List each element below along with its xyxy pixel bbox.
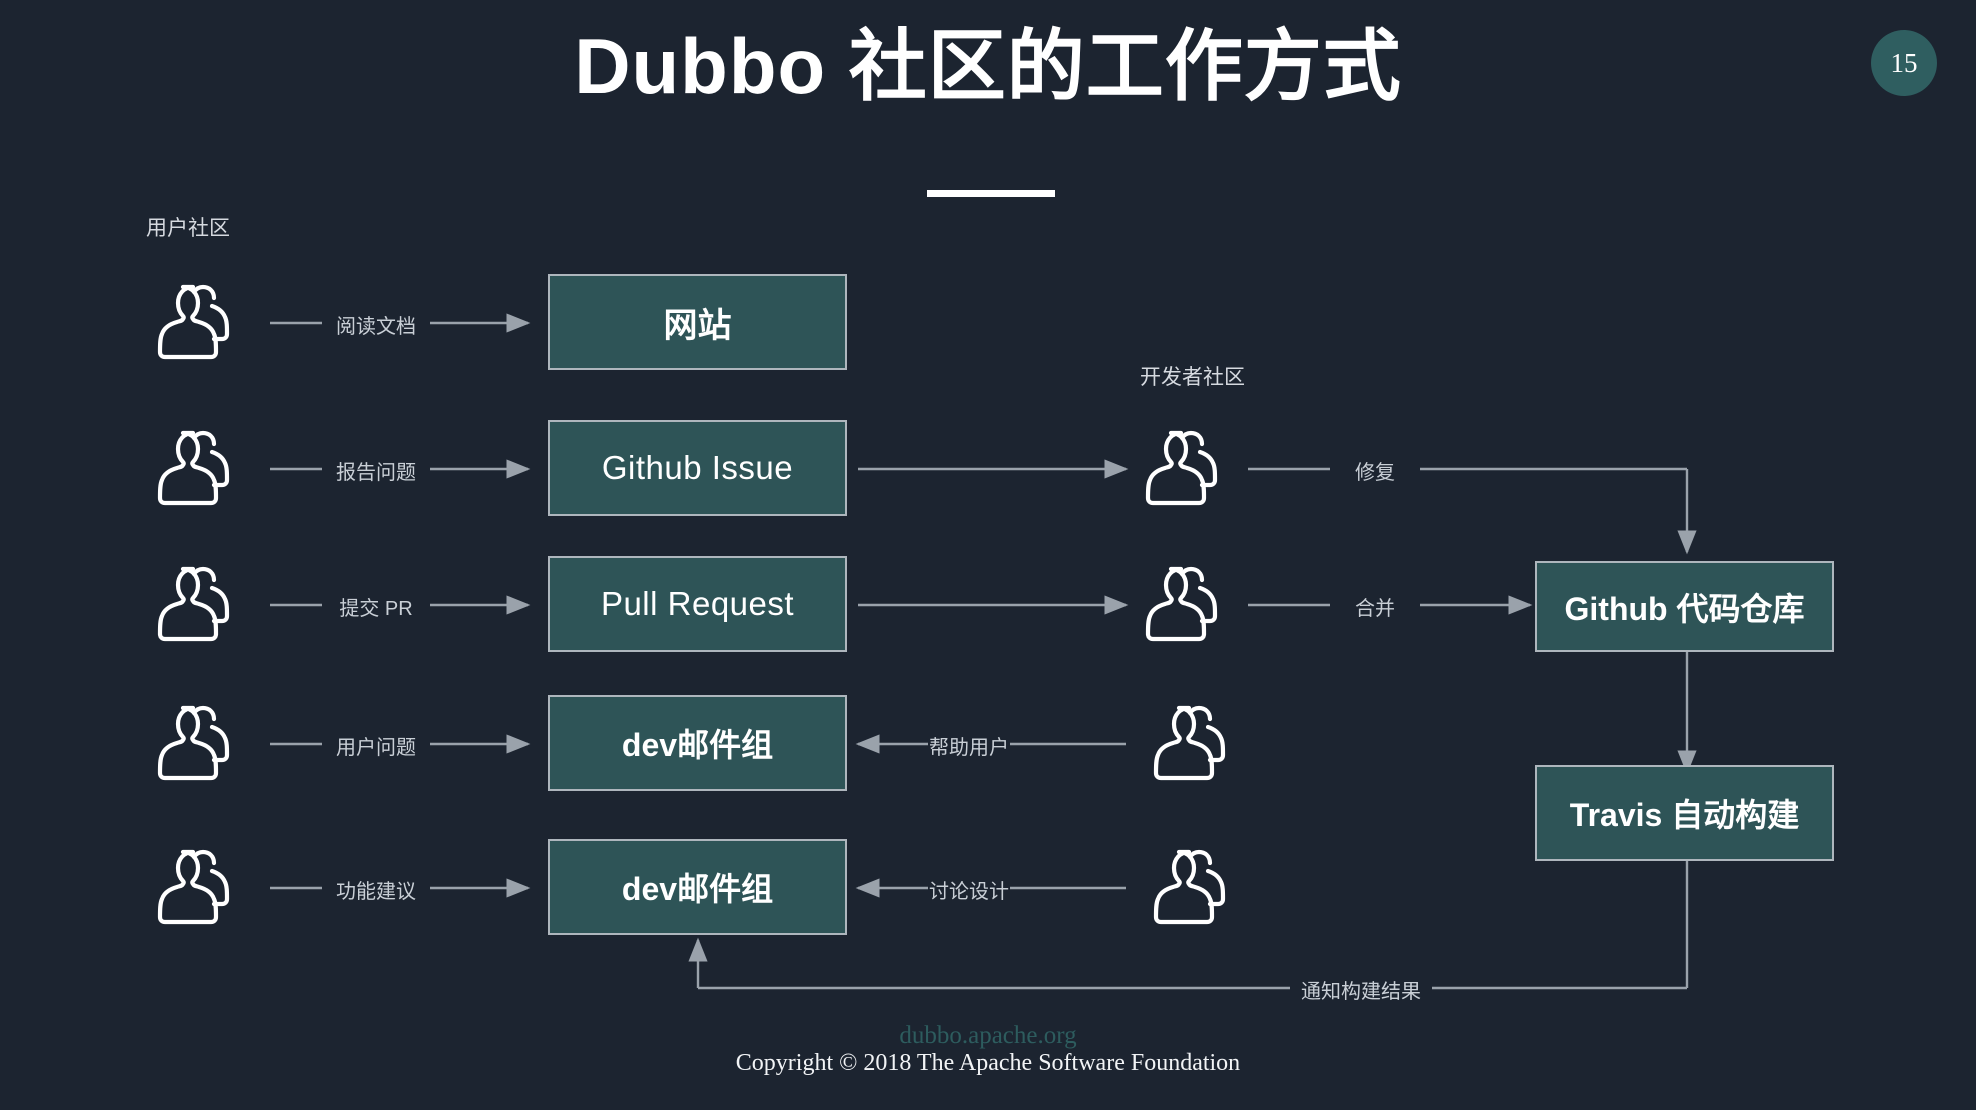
box-pull-request[interactable]: Pull Request: [548, 556, 847, 652]
users-icon: [152, 282, 244, 362]
box-dev-mailing-list-2[interactable]: dev邮件组: [548, 839, 847, 935]
footer-site-url: dubbo.apache.org: [0, 1022, 1976, 1050]
users-icon: [1140, 564, 1232, 644]
box-github-repository[interactable]: Github 代码仓库: [1535, 561, 1834, 652]
box-website[interactable]: 网站: [548, 274, 847, 370]
flow-label-submit-pr: 提交 PR: [322, 592, 430, 621]
title-underline: [927, 190, 1055, 197]
box-github-issue[interactable]: Github Issue: [548, 420, 847, 516]
flow-label-report-issue: 报告问题: [322, 456, 430, 485]
box-travis-ci[interactable]: Travis 自动构建: [1535, 765, 1834, 861]
page-title: Dubbo 社区的工作方式: [0, 22, 1976, 112]
users-icon: [1140, 428, 1232, 508]
caption-user-community: 用户社区: [146, 212, 230, 242]
flow-label-user-question: 用户问题: [322, 731, 430, 760]
flow-label-help-user: 帮助用户: [928, 731, 1010, 760]
users-icon: [152, 564, 244, 644]
users-icon: [152, 703, 244, 783]
users-icon: [1148, 703, 1240, 783]
flow-label-merge: 合并: [1330, 592, 1420, 621]
users-icon: [152, 428, 244, 508]
slide-canvas: Dubbo 社区的工作方式 15 用户社区 开发者社区: [0, 0, 1976, 1110]
flow-label-discuss-design: 讨论设计: [928, 875, 1010, 904]
page-number-badge: 15: [1871, 30, 1937, 96]
users-icon: [1148, 847, 1240, 927]
flow-label-feature-request: 功能建议: [322, 875, 430, 904]
box-dev-mailing-list-1[interactable]: dev邮件组: [548, 695, 847, 791]
flow-label-fix: 修复: [1330, 456, 1420, 485]
flow-label-notify-build-result: 通知构建结果: [1290, 975, 1432, 1004]
caption-developer-community: 开发者社区: [1140, 361, 1245, 391]
footer-copyright: Copyright © 2018 The Apache Software Fou…: [0, 1050, 1976, 1077]
flow-label-read-docs: 阅读文档: [322, 310, 430, 339]
connector-layer: [0, 0, 1976, 1110]
users-icon: [152, 847, 244, 927]
